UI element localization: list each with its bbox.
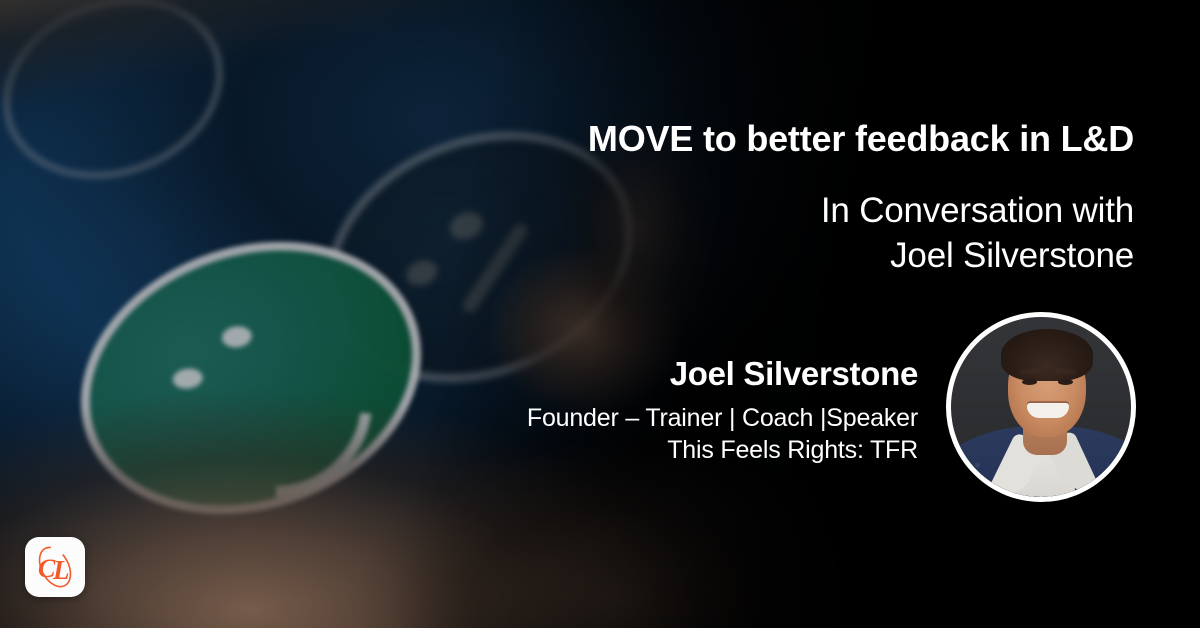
svg-text:L: L xyxy=(52,555,70,585)
subtitle: In Conversation with Joel Silverstone xyxy=(430,188,1134,279)
avatar-eye-right xyxy=(1058,379,1073,385)
headline-block: MOVE to better feedback in L&D In Conver… xyxy=(430,118,1134,279)
avatar-hair xyxy=(1001,329,1093,381)
subtitle-line-2: Joel Silverstone xyxy=(430,233,1134,279)
avatar-smile xyxy=(1027,403,1069,418)
speaker-roles: Founder – Trainer | Coach |Speaker This … xyxy=(440,402,918,466)
cl-monogram-icon: C L xyxy=(25,537,85,597)
speaker-role-line-1: Founder – Trainer | Coach |Speaker xyxy=(440,402,918,434)
speaker-name: Joel Silverstone xyxy=(440,356,918,393)
promo-banner: MOVE to better feedback in L&D In Conver… xyxy=(0,0,1200,628)
avatar-eye-left xyxy=(1022,379,1037,385)
avatar xyxy=(946,312,1136,502)
avatar-photo xyxy=(951,317,1131,497)
page-title: MOVE to better feedback in L&D xyxy=(430,118,1134,160)
speaker-role-line-2: This Feels Rights: TFR xyxy=(440,434,918,466)
brand-logo[interactable]: C L xyxy=(25,537,85,597)
subtitle-line-1: In Conversation with xyxy=(430,188,1134,234)
speaker-block: Joel Silverstone Founder – Trainer | Coa… xyxy=(440,356,918,466)
